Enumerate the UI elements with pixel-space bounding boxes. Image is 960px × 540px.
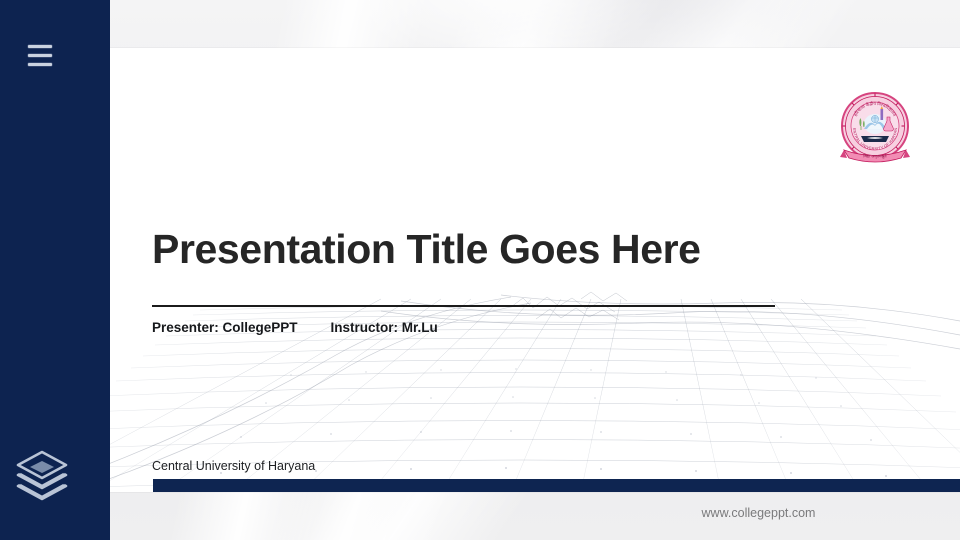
hamburger-bar-3 [28, 63, 52, 66]
university-seal-icon: हरियाणा केंद्रीय विश्वविद्यालय CENTRAL U… [834, 86, 916, 172]
footer-url: www.collegeppt.com [0, 506, 960, 520]
layers-stack-icon[interactable] [14, 448, 70, 510]
presentation-viewer: हरियाणा केंद्रीय विश्वविद्यालय CENTRAL U… [0, 0, 960, 540]
hamburger-bar-2 [28, 54, 52, 57]
hamburger-menu-icon[interactable] [28, 45, 52, 66]
left-sidebar [0, 0, 110, 540]
organization-label: Central University of Haryana [152, 459, 315, 473]
page-title: Presentation Title Goes Here [152, 226, 701, 273]
instructor-label: Instructor: Mr.Lu [331, 320, 438, 335]
title-divider [152, 305, 775, 307]
byline: Presenter: CollegePPT Instructor: Mr.Lu [152, 320, 438, 335]
footer-url-text: www.collegeppt.com [702, 506, 816, 520]
presenter-label: Presenter: CollegePPT [152, 320, 298, 335]
hamburger-bar-1 [28, 45, 52, 48]
slide-canvas: हरियाणा केंद्रीय विश्वविद्यालय CENTRAL U… [81, 48, 960, 492]
slide-bottom-bar [153, 479, 960, 492]
